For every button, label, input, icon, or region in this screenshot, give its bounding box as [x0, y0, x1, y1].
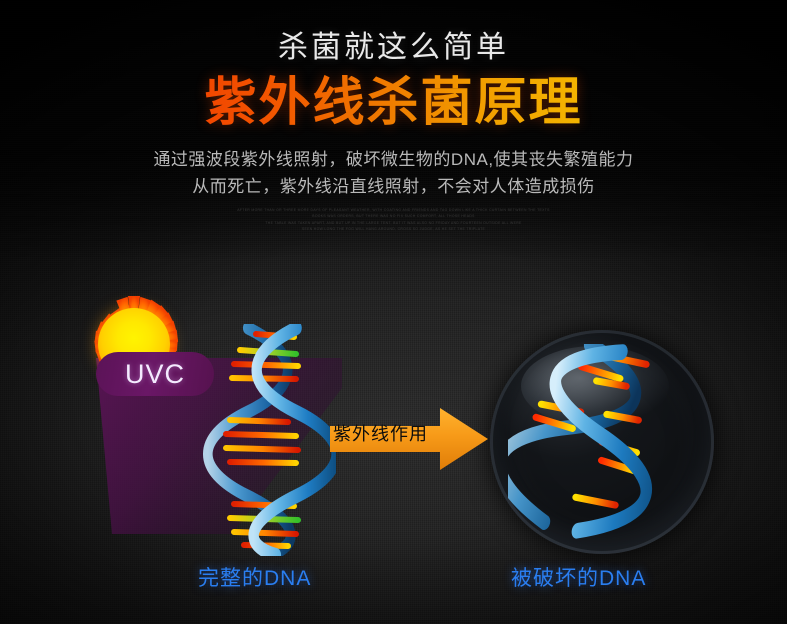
page-title: 紫外线杀菌原理: [0, 74, 787, 132]
uvc-label: UVC: [125, 361, 185, 388]
glass-sphere-icon: [490, 330, 714, 554]
description-line-1: 通过强波段紫外线照射，破坏微生物的DNA,使其丧失繁殖能力: [0, 146, 787, 173]
arrow-label: 紫外线作用: [333, 424, 451, 446]
uv-sterilization-poster: 杀菌就这么简单 紫外线杀菌原理 通过强波段紫外线照射，破坏微生物的DNA,使其丧…: [0, 0, 787, 624]
process-arrow: 紫外线作用: [330, 406, 490, 472]
description-line-2: 从而死亡，紫外线沿直线照射，不会对人体造成损伤: [0, 173, 787, 200]
fineprint-line-4: SEEN HOW LONG THE FOG WILL HANG AROUND, …: [0, 226, 787, 232]
caption-damaged-dna: 被破坏的DNA: [511, 562, 646, 592]
header-description: 通过强波段紫外线照射，破坏微生物的DNA,使其丧失繁殖能力 从而死亡，紫外线沿直…: [0, 146, 787, 200]
caption-intact-dna: 完整的DNA: [198, 562, 311, 592]
dna-helix-icon: [196, 324, 336, 556]
header: 杀菌就这么简单 紫外线杀菌原理 通过强波段紫外线照射，破坏微生物的DNA,使其丧…: [0, 30, 787, 232]
fineprint-block: AFTER MORE THAN OR THREE MORE DAYS OF PL…: [0, 207, 787, 233]
damaged-dna-icon: [508, 344, 696, 540]
header-subtitle: 杀菌就这么简单: [0, 30, 787, 66]
